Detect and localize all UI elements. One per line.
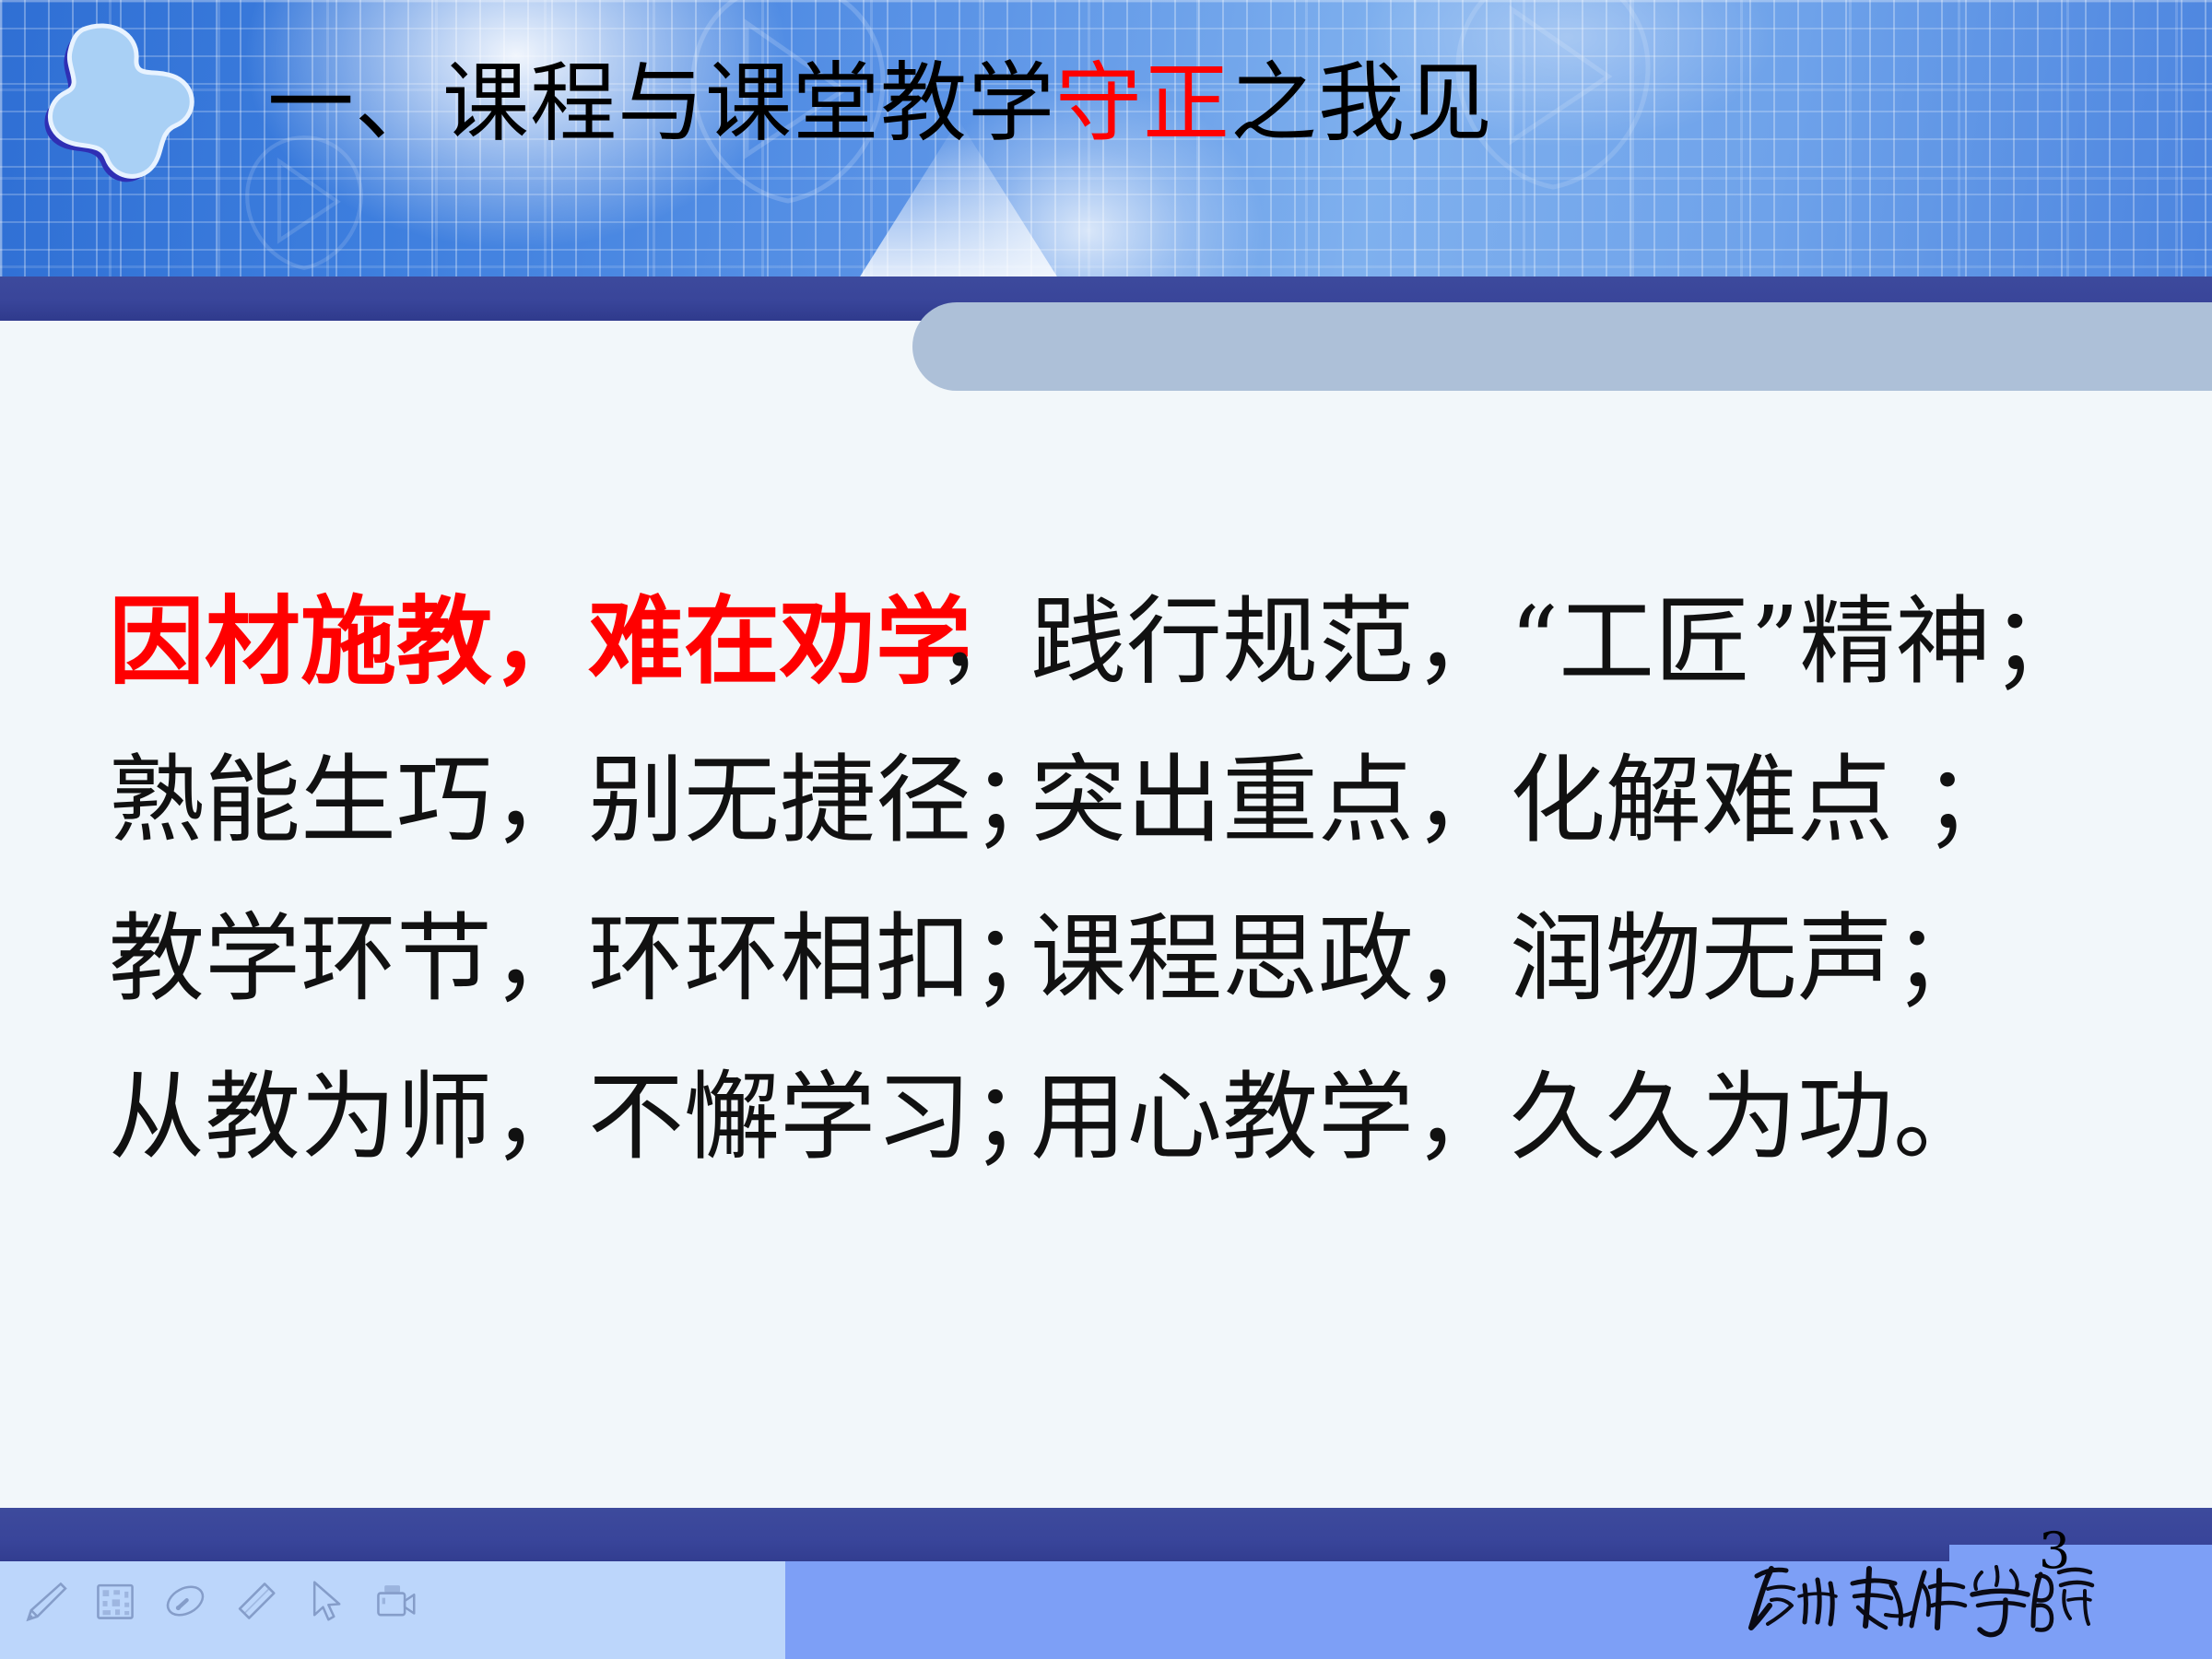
- eraser-icon[interactable]: [230, 1576, 280, 1626]
- verse-line: 教学环节，环环相扣； 课程思政，润物无声；: [109, 911, 2136, 1069]
- cursor-arrow-icon[interactable]: [300, 1576, 350, 1626]
- verse-line-left: 从教为师，不懈学习；: [109, 1069, 1030, 1165]
- slide-body: 因材施教，难在劝学， 践行规范，“工匠”精神； 熟能生巧，别无捷径； 突出重点，…: [0, 391, 2212, 1508]
- verse-line-left-text: 因材施教，难在劝学: [109, 584, 971, 698]
- page-title: 一、课程与课堂教学守正之我见: [267, 61, 1493, 147]
- verse-line-left-comma: ，: [936, 585, 1032, 698]
- page-number: 3: [2039, 1526, 2070, 1576]
- verse-text-block: 因材施教，难在劝学， 践行规范，“工匠”精神； 熟能生巧，别无捷径； 突出重点，…: [109, 594, 2136, 1228]
- header-banner: 一、课程与课堂教学守正之我见: [0, 0, 2212, 276]
- highlight-grid-icon[interactable]: [90, 1576, 140, 1626]
- verse-line-right: 践行规范，“工匠”精神；: [1030, 594, 2087, 689]
- verse-line-left: 熟能生巧，别无捷径；: [109, 752, 1030, 848]
- verse-line-left: 因材施教，难在劝学，: [109, 594, 1030, 689]
- presentation-slide: 一、课程与课堂教学守正之我见 因材施教，难在劝学， 践行规范，“工匠”精神； 熟…: [0, 0, 2212, 1659]
- marker-icon[interactable]: [160, 1576, 210, 1626]
- verse-line-right: 用心教学，久久为功。: [1030, 1069, 1989, 1165]
- page-title-highlight: 守正: [1055, 53, 1230, 154]
- verse-line-right: 突出重点，化解难点 ；: [1030, 752, 2019, 848]
- verse-line-right: 课程思政，润物无声；: [1030, 911, 1989, 1006]
- page-title-prefix: 一、课程与课堂教学: [267, 53, 1055, 154]
- verse-line-left: 教学环节，环环相扣；: [109, 911, 1030, 1006]
- verse-line: 从教为师，不懈学习； 用心教学，久久为功。: [109, 1069, 2136, 1228]
- page-title-suffix: 之我见: [1230, 53, 1493, 154]
- annotation-toolbar[interactable]: [20, 1576, 420, 1626]
- pen-icon[interactable]: [20, 1576, 70, 1626]
- amoeba-logo-mark-icon: [26, 11, 210, 186]
- header-gray-tab: [912, 302, 2212, 391]
- verse-line: 因材施教，难在劝学， 践行规范，“工匠”精神；: [109, 594, 2136, 752]
- video-camera-icon[interactable]: [371, 1576, 420, 1626]
- verse-line: 熟能生巧，别无捷径； 突出重点，化解难点 ；: [109, 752, 2136, 911]
